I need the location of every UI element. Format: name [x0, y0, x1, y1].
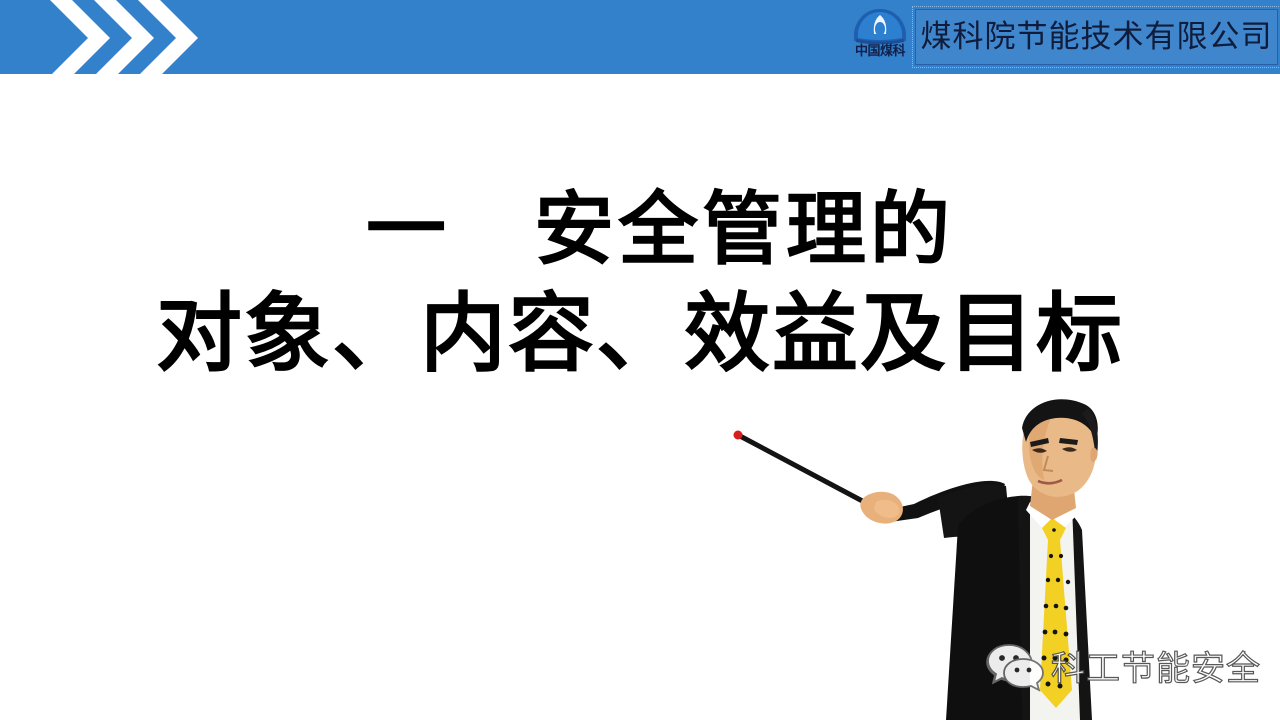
slide-title-line-1: 一 安全管理的 [0, 178, 1280, 282]
slide-title: 一 安全管理的 对象、内容、效益及目标 [0, 178, 1280, 386]
brand-block: 中国煤科 煤科院节能技术有限公司 [845, 2, 1280, 72]
slide-header-band: 中国煤科 煤科院节能技术有限公司 [0, 0, 1280, 74]
wechat-watermark: 科工节能安全 [985, 640, 1275, 698]
shield-mark-icon [853, 8, 907, 44]
watermark-label: 科工节能安全 [1051, 649, 1261, 689]
china-coal-shield-logo-icon: 中国煤科 [847, 8, 913, 68]
company-logo-text: 中国煤科 [847, 44, 913, 60]
company-name-label: 煤科院节能技术有限公司 [921, 19, 1273, 55]
slide-title-line-2: 对象、内容、效益及目标 [0, 282, 1280, 386]
company-name-textbox[interactable]: 煤科院节能技术有限公司 [915, 9, 1278, 65]
presentation-slide: 中国煤科 煤科院节能技术有限公司 一 安全管理的 对象、内容、效益及目标 [0, 0, 1280, 720]
double-chevron-right-icon [32, 0, 202, 80]
wechat-logo-icon [985, 643, 1047, 695]
